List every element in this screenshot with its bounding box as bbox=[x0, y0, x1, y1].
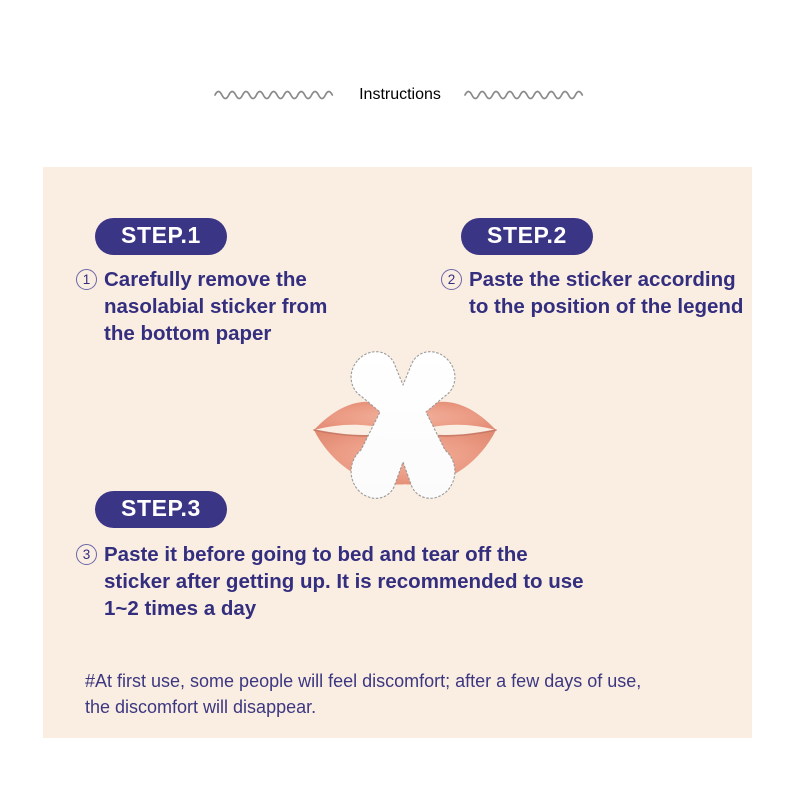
footnote-text: #At first use, some people will feel dis… bbox=[85, 668, 725, 720]
step-1-badge: STEP.1 bbox=[95, 218, 227, 255]
step-3-number-marker: 3 bbox=[76, 544, 97, 565]
step-2-description: Paste the sticker according to the posit… bbox=[469, 266, 743, 320]
step-3-description: Paste it before going to bed and tear of… bbox=[104, 541, 584, 622]
step-1-description: Carefully remove the nasolabial sticker … bbox=[104, 266, 327, 347]
page-title: Instructions bbox=[359, 86, 441, 104]
wavy-line-icon bbox=[213, 84, 337, 106]
page-header: Instructions bbox=[0, 66, 800, 124]
step-1-text-block: 1 Carefully remove the nasolabial sticke… bbox=[76, 266, 406, 347]
step-3-badge: STEP.3 bbox=[95, 491, 227, 528]
wavy-line-icon bbox=[463, 84, 587, 106]
step-3-text-block: 3 Paste it before going to bed and tear … bbox=[76, 541, 696, 622]
step-2-badge: STEP.2 bbox=[461, 218, 593, 255]
step-2-number-marker: 2 bbox=[441, 269, 462, 290]
lips-with-x-sticker-illustration bbox=[290, 340, 520, 530]
step-1-number-marker: 1 bbox=[76, 269, 97, 290]
step-2-text-block: 2 Paste the sticker according to the pos… bbox=[441, 266, 771, 320]
